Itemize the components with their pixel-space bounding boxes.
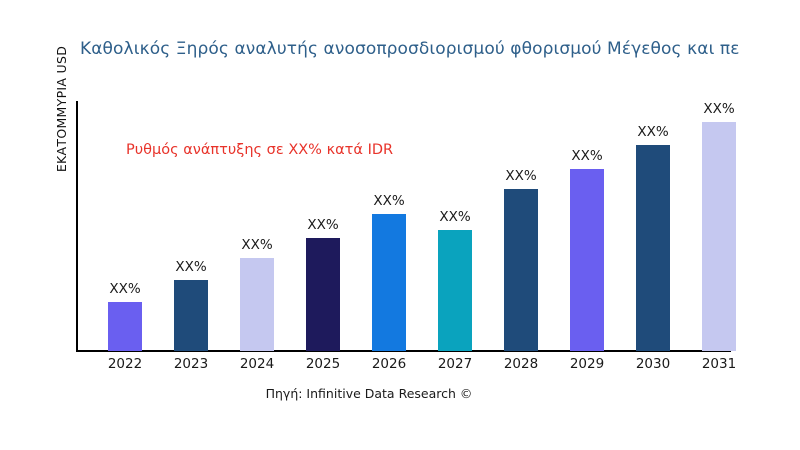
bar-2030[interactable]	[636, 145, 670, 351]
bar-2025[interactable]	[306, 238, 340, 351]
bar-group-2029: XX%	[554, 0, 620, 351]
x-tick-2026: 2026	[356, 356, 422, 372]
bar-2027[interactable]	[438, 230, 472, 351]
bar-group-2026: XX%	[356, 0, 422, 351]
bar-group-2024: XX%	[224, 0, 290, 351]
bar-2023[interactable]	[174, 280, 208, 351]
bar-value-label-2025: XX%	[290, 217, 356, 233]
bar-group-2028: XX%	[488, 0, 554, 351]
bar-2022[interactable]	[108, 302, 142, 351]
bar-value-label-2030: XX%	[620, 124, 686, 140]
bar-value-label-2024: XX%	[224, 237, 290, 253]
bar-group-2025: XX%	[290, 0, 356, 351]
source-note: Πηγή: Infinitive Data Research ©	[0, 386, 738, 401]
bar-group-2027: XX%	[422, 0, 488, 351]
bar-group-2022: XX%	[92, 0, 158, 351]
bar-2026[interactable]	[372, 214, 406, 351]
x-tick-2031: 2031	[686, 356, 752, 372]
bar-value-label-2031: XX%	[686, 101, 752, 117]
bar-value-label-2022: XX%	[92, 281, 158, 297]
bar-value-label-2028: XX%	[488, 168, 554, 184]
x-axis-tick-labels: 2022202320242025202620272028202920302031	[0, 356, 800, 378]
bar-value-label-2026: XX%	[356, 193, 422, 209]
x-tick-2023: 2023	[158, 356, 224, 372]
bar-group-2031: XX%	[686, 0, 752, 351]
bar-2031[interactable]	[702, 122, 736, 351]
x-tick-2028: 2028	[488, 356, 554, 372]
bar-2029[interactable]	[570, 169, 604, 351]
x-tick-2024: 2024	[224, 356, 290, 372]
bar-group-2023: XX%	[158, 0, 224, 351]
bar-group-2030: XX%	[620, 0, 686, 351]
bar-value-label-2029: XX%	[554, 148, 620, 164]
bar-2028[interactable]	[504, 189, 538, 351]
bar-value-label-2023: XX%	[158, 259, 224, 275]
x-tick-2030: 2030	[620, 356, 686, 372]
x-tick-2025: 2025	[290, 356, 356, 372]
x-tick-2022: 2022	[92, 356, 158, 372]
bar-2024[interactable]	[240, 258, 274, 351]
x-tick-2029: 2029	[554, 356, 620, 372]
plot-area: XX%XX%XX%XX%XX%XX%XX%XX%XX%XX%	[0, 0, 800, 351]
bar-chart: Καθολικός Ξηρός αναλυτής ανοσοπροσδιορισ…	[0, 0, 800, 450]
bar-value-label-2027: XX%	[422, 209, 488, 225]
x-tick-2027: 2027	[422, 356, 488, 372]
